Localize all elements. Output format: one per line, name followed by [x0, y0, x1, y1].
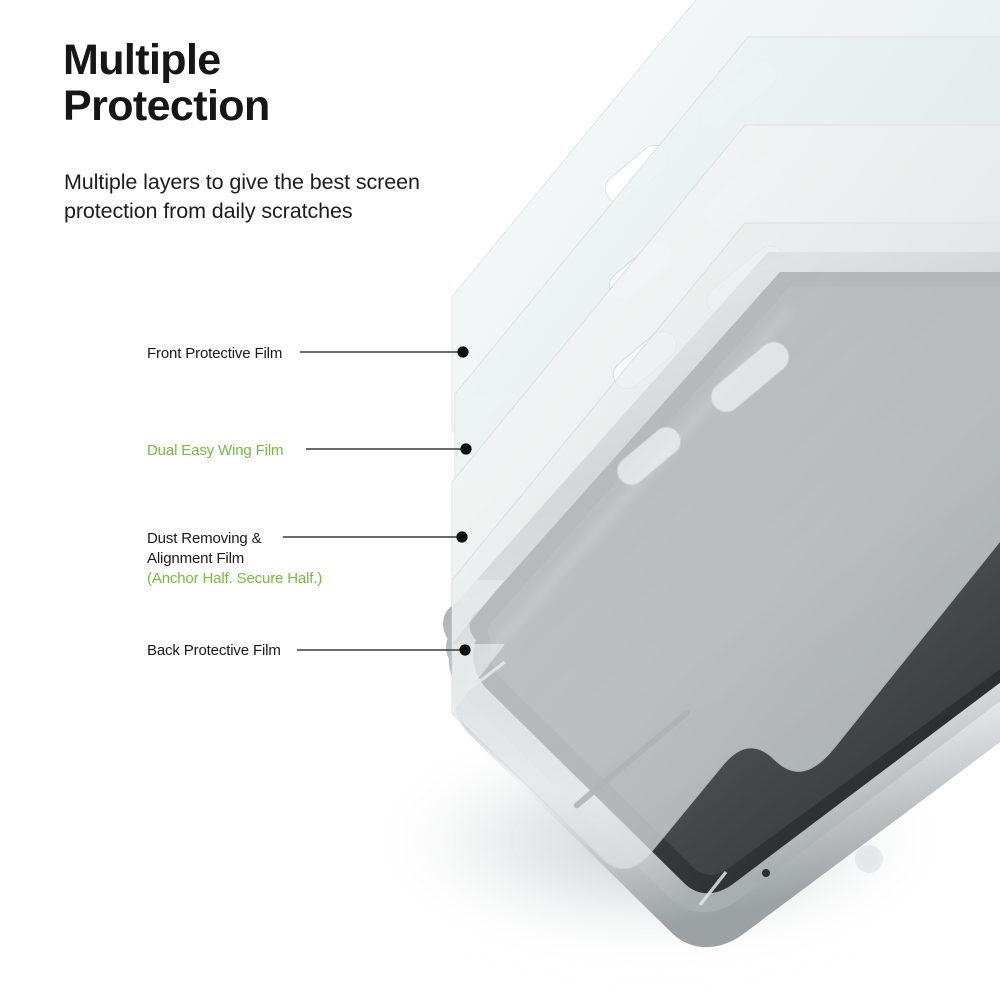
leader-dual-easy-wing-film: [306, 443, 472, 454]
callout-dust-removing-alignment-film: Dust Removing & Alignment Film (Anchor H…: [147, 529, 322, 589]
callout-label-line3: (Anchor Half. Secure Half.): [147, 569, 322, 589]
callout-leaders: [283, 346, 472, 655]
leader-front-protective-film: [300, 346, 469, 357]
microphone-hole: [762, 869, 770, 877]
callout-front-protective-film: Front Protective Film: [147, 344, 282, 364]
product-illustration: [0, 0, 1000, 1000]
page-subtitle: Multiple layers to give the best screen …: [64, 168, 420, 227]
callout-label-line2: Alignment Film: [147, 549, 322, 569]
page-title: Multiple Protection: [63, 37, 270, 129]
callout-dual-easy-wing-film: Dual Easy Wing Film: [147, 441, 283, 461]
callout-label-line1: Front Protective Film: [147, 344, 282, 364]
callout-label-line1: Dust Removing &: [147, 529, 322, 549]
callout-label-line1: Back Protective Film: [147, 641, 281, 661]
callout-label-line1: Dual Easy Wing Film: [147, 441, 283, 461]
callout-back-protective-film: Back Protective Film: [147, 641, 281, 661]
infographic-canvas: Multiple Protection Multiple layers to g…: [0, 0, 1000, 1000]
leader-back-protective-film: [297, 644, 471, 655]
